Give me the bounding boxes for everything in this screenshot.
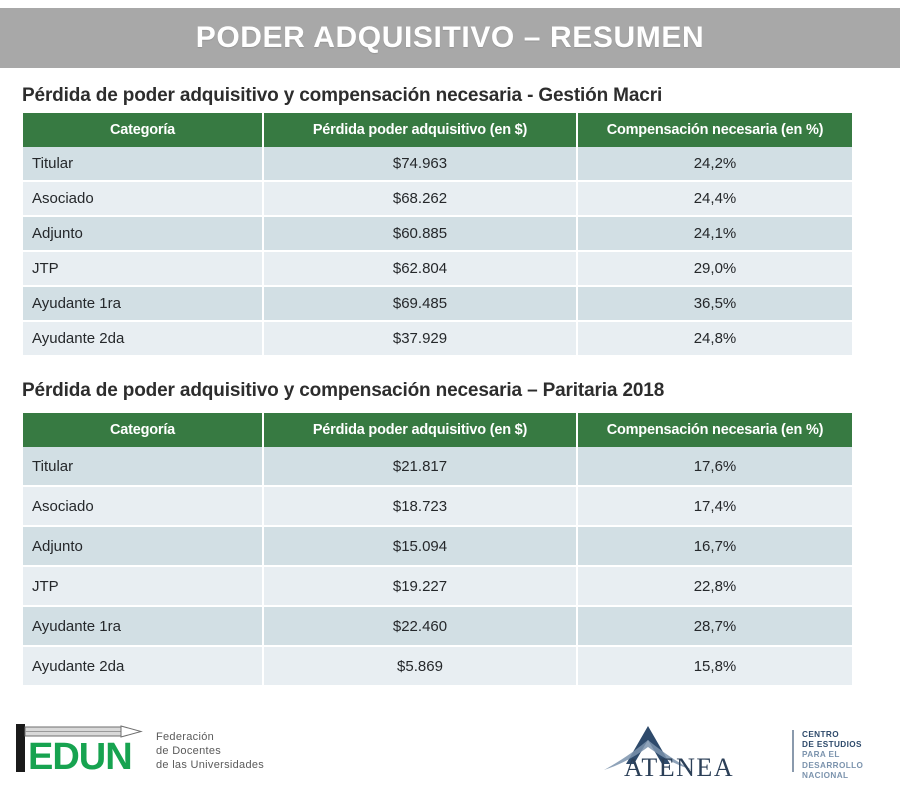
table-row: Asociado $68.262 24,4%: [23, 181, 852, 216]
table-row: Ayudante 1ra $22.460 28,7%: [23, 606, 852, 646]
atenea-tagline-line-2: DE ESTUDIOS: [802, 740, 863, 750]
cell-categoria: Asociado: [23, 486, 263, 526]
column-header-categoria: Categoría: [23, 113, 263, 147]
cell-categoria: Adjunto: [23, 216, 263, 251]
table-header-row: Categoría Pérdida poder adquisitivo (en …: [23, 113, 852, 147]
table-header-row: Categoría Pérdida poder adquisitivo (en …: [23, 413, 852, 447]
header-banner: PODER ADQUISITIVO – RESUMEN: [0, 8, 900, 68]
cell-categoria: JTP: [23, 251, 263, 286]
table-body: Titular $21.817 17,6% Asociado $18.723 1…: [23, 447, 852, 686]
cell-perdida: $19.227: [263, 566, 577, 606]
table-header: Categoría Pérdida poder adquisitivo (en …: [23, 113, 852, 147]
cell-categoria: Ayudante 2da: [23, 646, 263, 686]
column-header-categoria: Categoría: [23, 413, 263, 447]
cell-compensacion: 22,8%: [577, 566, 852, 606]
cell-perdida: $60.885: [263, 216, 577, 251]
column-header-compensacion: Compensación necesaria (en %): [577, 413, 852, 447]
cell-perdida: $68.262: [263, 181, 577, 216]
cell-compensacion: 24,2%: [577, 147, 852, 181]
table-row: Ayudante 2da $37.929 24,8%: [23, 321, 852, 356]
section-title-paritaria-2018: Pérdida de poder adquisitivo y compensac…: [22, 380, 664, 402]
cell-perdida: $74.963: [263, 147, 577, 181]
cell-categoria: Adjunto: [23, 526, 263, 566]
cell-categoria: Ayudante 1ra: [23, 286, 263, 321]
section-title-gestion-macri: Pérdida de poder adquisitivo y compensac…: [22, 85, 662, 107]
atenea-divider: [792, 730, 794, 772]
column-header-compensacion: Compensación necesaria (en %): [577, 113, 852, 147]
svg-text:ATENEA: ATENEA: [624, 753, 734, 780]
table-header: Categoría Pérdida poder adquisitivo (en …: [23, 413, 852, 447]
column-header-perdida: Pérdida poder adquisitivo (en $): [263, 113, 577, 147]
cell-compensacion: 24,8%: [577, 321, 852, 356]
table-row: Adjunto $60.885 24,1%: [23, 216, 852, 251]
fedun-tagline-line-2: de Docentes: [156, 744, 264, 758]
atenea-tagline-line-1: CENTRO: [802, 730, 863, 740]
atenea-logo: ATENEA CENTRO DE ESTUDIOS PARA EL DESARR…: [596, 720, 886, 786]
table-row: Asociado $18.723 17,4%: [23, 486, 852, 526]
cell-perdida: $5.869: [263, 646, 577, 686]
cell-compensacion: 16,7%: [577, 526, 852, 566]
cell-compensacion: 15,8%: [577, 646, 852, 686]
cell-perdida: $22.460: [263, 606, 577, 646]
cell-compensacion: 29,0%: [577, 251, 852, 286]
fedun-logomark-icon: EDUN: [14, 722, 146, 776]
svg-text:EDUN: EDUN: [28, 736, 132, 776]
atenea-tagline: CENTRO DE ESTUDIOS PARA EL DESARROLLO NA…: [802, 730, 863, 781]
cell-categoria: Titular: [23, 447, 263, 486]
cell-categoria: Asociado: [23, 181, 263, 216]
table-row: Ayudante 1ra $69.485 36,5%: [23, 286, 852, 321]
page-title: PODER ADQUISITIVO – RESUMEN: [196, 21, 705, 55]
table-body: Titular $74.963 24,2% Asociado $68.262 2…: [23, 147, 852, 356]
atenea-tagline-line-4: DESARROLLO: [802, 761, 863, 771]
cell-categoria: Titular: [23, 147, 263, 181]
cell-compensacion: 24,4%: [577, 181, 852, 216]
fedun-tagline-line-3: de las Universidades: [156, 758, 264, 772]
cell-categoria: Ayudante 1ra: [23, 606, 263, 646]
table-row: Adjunto $15.094 16,7%: [23, 526, 852, 566]
table-row: Titular $21.817 17,6%: [23, 447, 852, 486]
cell-compensacion: 28,7%: [577, 606, 852, 646]
table-row: Titular $74.963 24,2%: [23, 147, 852, 181]
cell-perdida: $18.723: [263, 486, 577, 526]
cell-compensacion: 17,4%: [577, 486, 852, 526]
cell-perdida: $69.485: [263, 286, 577, 321]
column-header-perdida: Pérdida poder adquisitivo (en $): [263, 413, 577, 447]
cell-perdida: $15.094: [263, 526, 577, 566]
cell-categoria: Ayudante 2da: [23, 321, 263, 356]
fedun-tagline-line-1: Federación: [156, 730, 264, 744]
fedun-logo: EDUN Federación de Docentes de las Unive…: [14, 722, 284, 782]
table-paritaria-2018: Categoría Pérdida poder adquisitivo (en …: [23, 413, 852, 687]
table-row: Ayudante 2da $5.869 15,8%: [23, 646, 852, 686]
cell-perdida: $21.817: [263, 447, 577, 486]
cell-compensacion: 17,6%: [577, 447, 852, 486]
cell-compensacion: 24,1%: [577, 216, 852, 251]
atenea-tagline-line-5: NACIONAL: [802, 771, 863, 781]
fedun-tagline: Federación de Docentes de las Universida…: [156, 730, 264, 772]
table-row: JTP $62.804 29,0%: [23, 251, 852, 286]
cell-perdida: $62.804: [263, 251, 577, 286]
atenea-mountain-icon: ATENEA: [596, 720, 786, 780]
footer: EDUN Federación de Docentes de las Unive…: [0, 706, 900, 806]
atenea-tagline-line-3: PARA EL: [802, 750, 863, 760]
cell-compensacion: 36,5%: [577, 286, 852, 321]
table-gestion-macri: Categoría Pérdida poder adquisitivo (en …: [23, 113, 852, 357]
table-row: JTP $19.227 22,8%: [23, 566, 852, 606]
cell-perdida: $37.929: [263, 321, 577, 356]
cell-categoria: JTP: [23, 566, 263, 606]
